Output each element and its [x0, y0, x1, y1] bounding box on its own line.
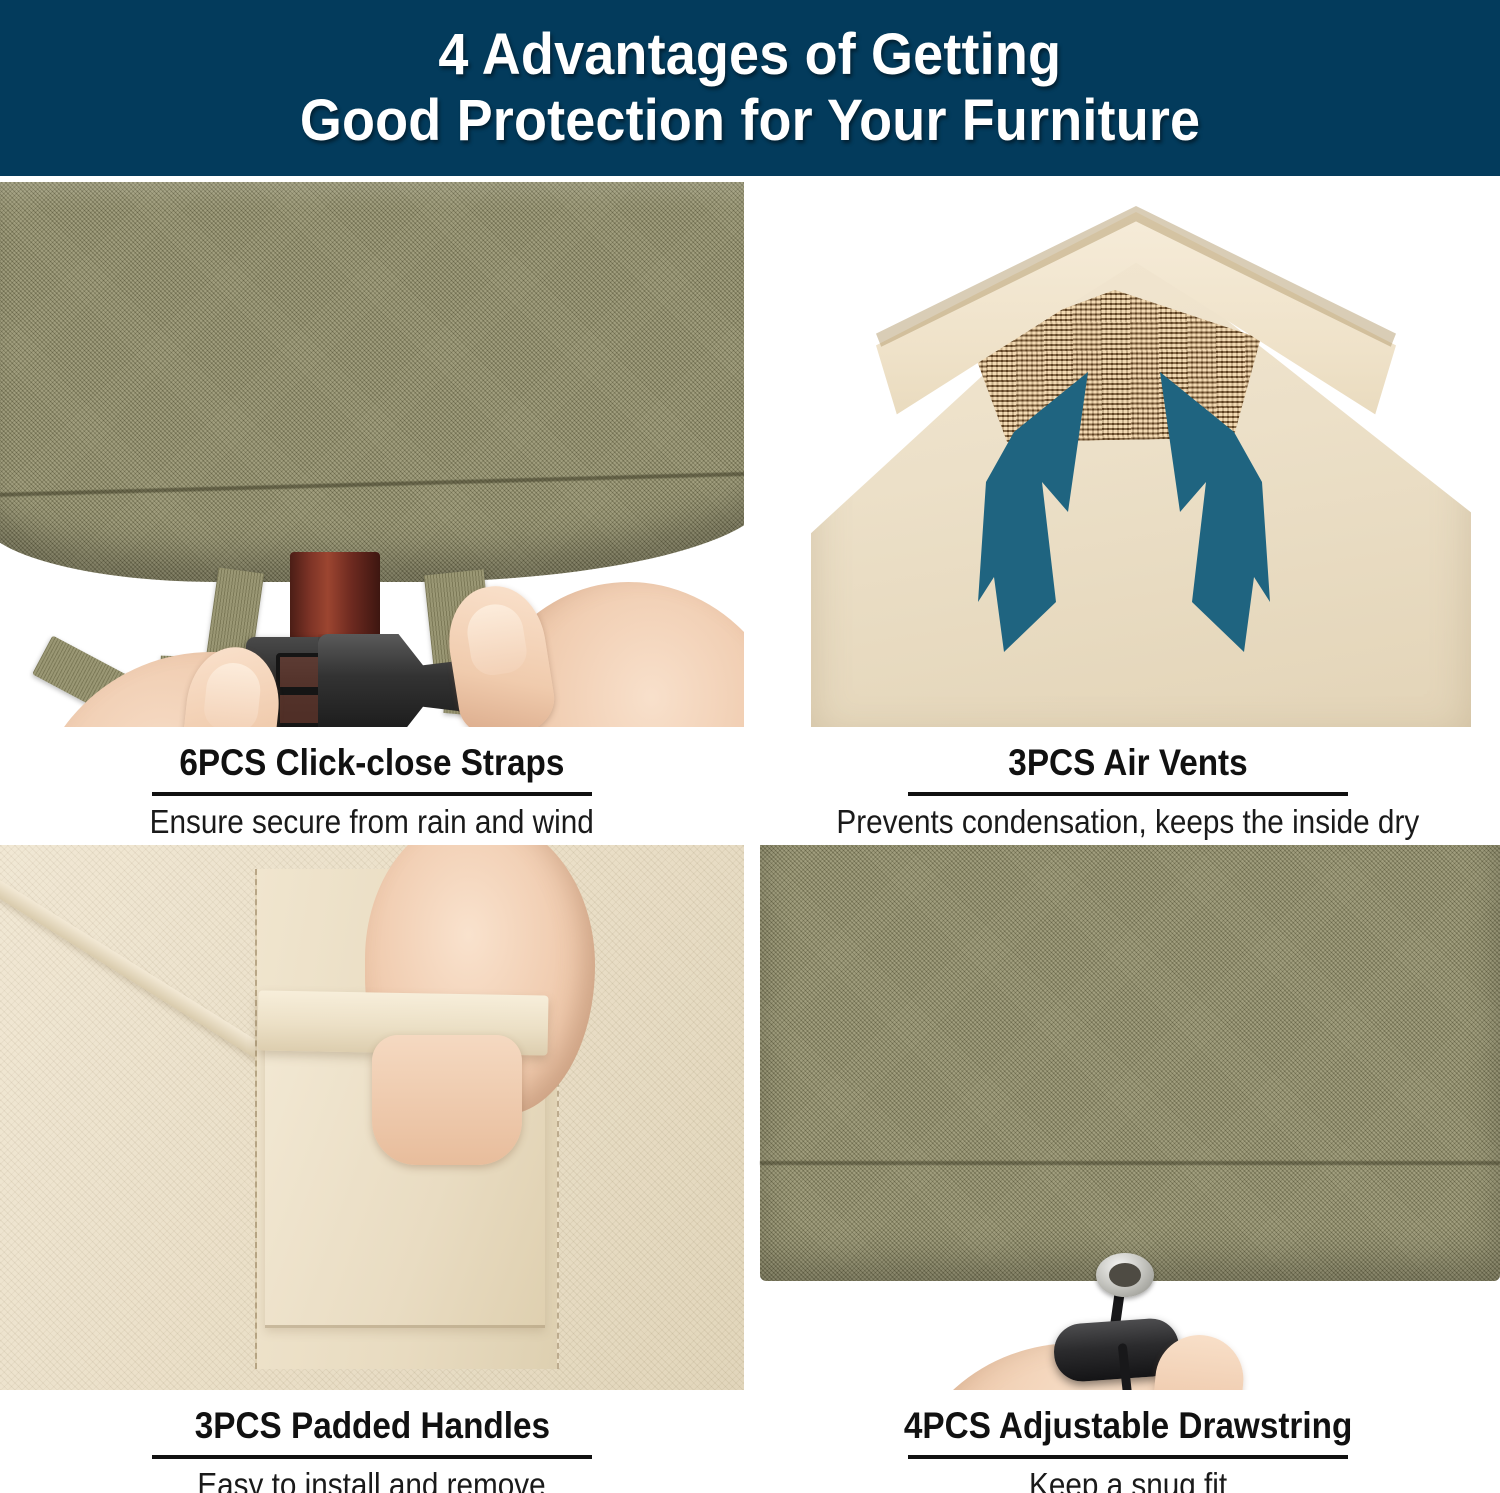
- photo-adjustable-drawstring: [756, 845, 1500, 1390]
- feature-subtitle: Keep a snug fit: [1029, 1465, 1227, 1493]
- airflow-arrow-left-icon: [978, 372, 1088, 652]
- page-title-line2: Good Protection for Your Furniture: [300, 88, 1200, 154]
- feature-title: 4PCS Adjustable Drawstring: [904, 1404, 1352, 1448]
- feature-title: 3PCS Air Vents: [1008, 741, 1247, 785]
- title-underline: [908, 1455, 1348, 1459]
- fingers: [372, 1035, 522, 1165]
- caption-air-vents: 3PCS Air Vents Prevents condensation, ke…: [756, 727, 1500, 842]
- feature-subtitle: Easy to install and remove: [198, 1465, 546, 1493]
- page-title-line1: 4 Advantages of Getting: [439, 22, 1062, 88]
- feature-title: 3PCS Padded Handles: [194, 1404, 549, 1448]
- feature-subtitle: Ensure secure from rain and wind: [150, 802, 594, 842]
- metal-grommet: [1096, 1253, 1154, 1297]
- feature-title: 6PCS Click-close Straps: [180, 741, 565, 785]
- feature-subtitle: Prevents condensation, keeps the inside …: [837, 802, 1420, 842]
- infographic-page: 4 Advantages of Getting Good Protection …: [0, 0, 1500, 1493]
- feature-cell-drawstring: 4PCS Adjustable Drawstring Keep a snug f…: [756, 845, 1500, 1493]
- photo-air-vents: [756, 182, 1500, 727]
- airflow-arrow-right-icon: [1160, 372, 1270, 652]
- feature-cell-air-vents: 3PCS Air Vents Prevents condensation, ke…: [756, 182, 1500, 842]
- hem-seam-line: [760, 1161, 1500, 1165]
- feature-grid: 6PCS Click-close Straps Ensure secure fr…: [0, 182, 1500, 1493]
- header-banner: 4 Advantages of Getting Good Protection …: [0, 0, 1500, 176]
- caption-click-close-straps: 6PCS Click-close Straps Ensure secure fr…: [0, 727, 744, 842]
- caption-padded-handles: 3PCS Padded Handles Easy to install and …: [0, 1390, 744, 1493]
- feature-cell-straps: 6PCS Click-close Straps Ensure secure fr…: [0, 182, 744, 842]
- feature-cell-padded-handles: 3PCS Padded Handles Easy to install and …: [0, 845, 744, 1493]
- title-underline: [908, 792, 1348, 796]
- photo-padded-handles: [0, 845, 744, 1390]
- title-underline: [152, 1455, 592, 1459]
- olive-cover-hem-fabric: [760, 845, 1500, 1281]
- photo-click-close-straps: [0, 182, 744, 727]
- caption-drawstring: 4PCS Adjustable Drawstring Keep a snug f…: [756, 1390, 1500, 1493]
- title-underline: [152, 792, 592, 796]
- olive-cover-fabric: [0, 182, 744, 582]
